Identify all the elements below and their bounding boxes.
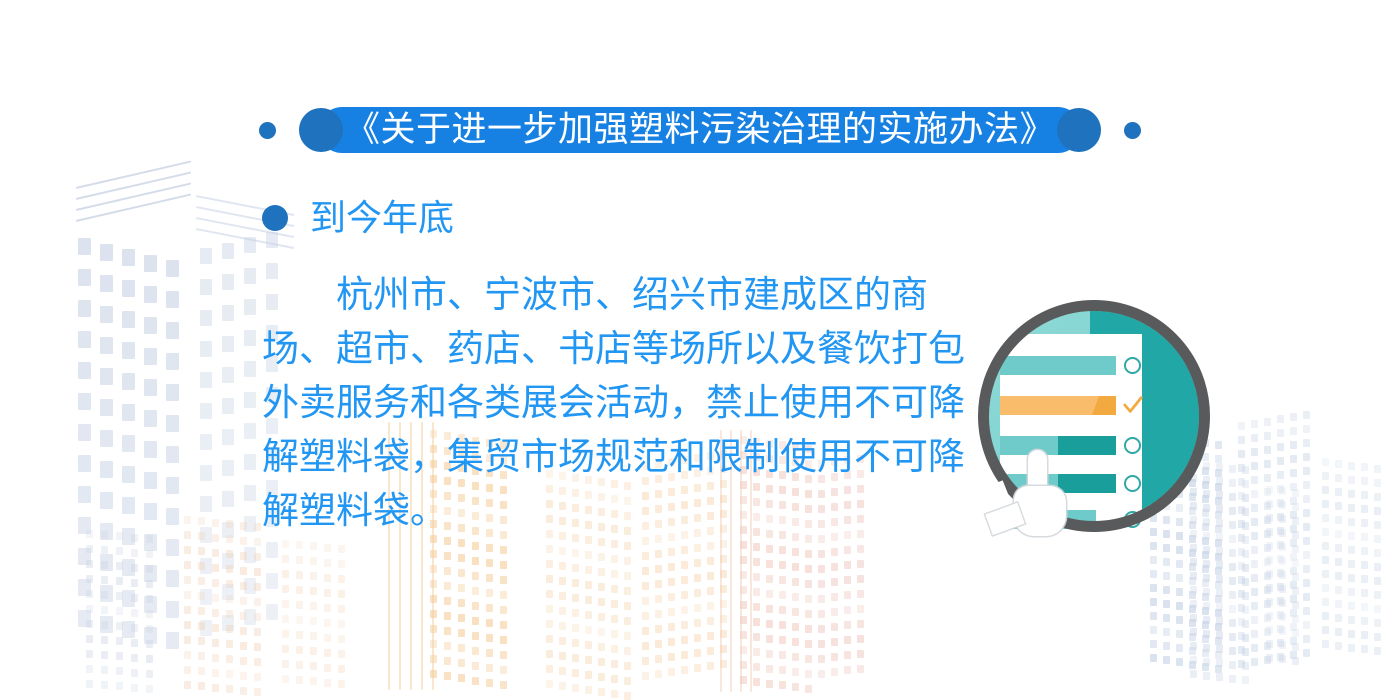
title-banner-row: 《关于进一步加强塑料污染治理的实施办法》 <box>0 98 1400 162</box>
checklist-illustration <box>978 300 1210 532</box>
decor-dot-large-left <box>299 108 343 152</box>
page-title: 《关于进一步加强塑料污染治理的实施办法》 <box>345 107 1055 153</box>
section-heading-row: 到今年底 <box>262 200 454 236</box>
section-heading: 到今年底 <box>310 200 454 236</box>
document-title-banner: 《关于进一步加强塑料污染治理的实施办法》 <box>319 107 1081 153</box>
poster-canvas: 《关于进一步加强塑料污染治理的实施办法》 到今年底 杭州市、宁波市、绍兴市建成区… <box>0 0 1400 700</box>
bullet-dot-icon <box>262 205 288 231</box>
pointing-hand-icon <box>1006 450 1072 536</box>
hand-palm <box>1014 486 1066 536</box>
decor-dot-small-right <box>1124 122 1141 139</box>
decor-dot-small-left <box>259 122 276 139</box>
body-paragraph: 杭州市、宁波市、绍兴市建成区的商场、超市、药店、书店等场所以及餐饮打包外卖服务和… <box>262 268 968 538</box>
decor-dot-large-right <box>1057 108 1101 152</box>
body-copy: 杭州市、宁波市、绍兴市建成区的商场、超市、药店、书店等场所以及餐饮打包外卖服务和… <box>262 268 968 538</box>
